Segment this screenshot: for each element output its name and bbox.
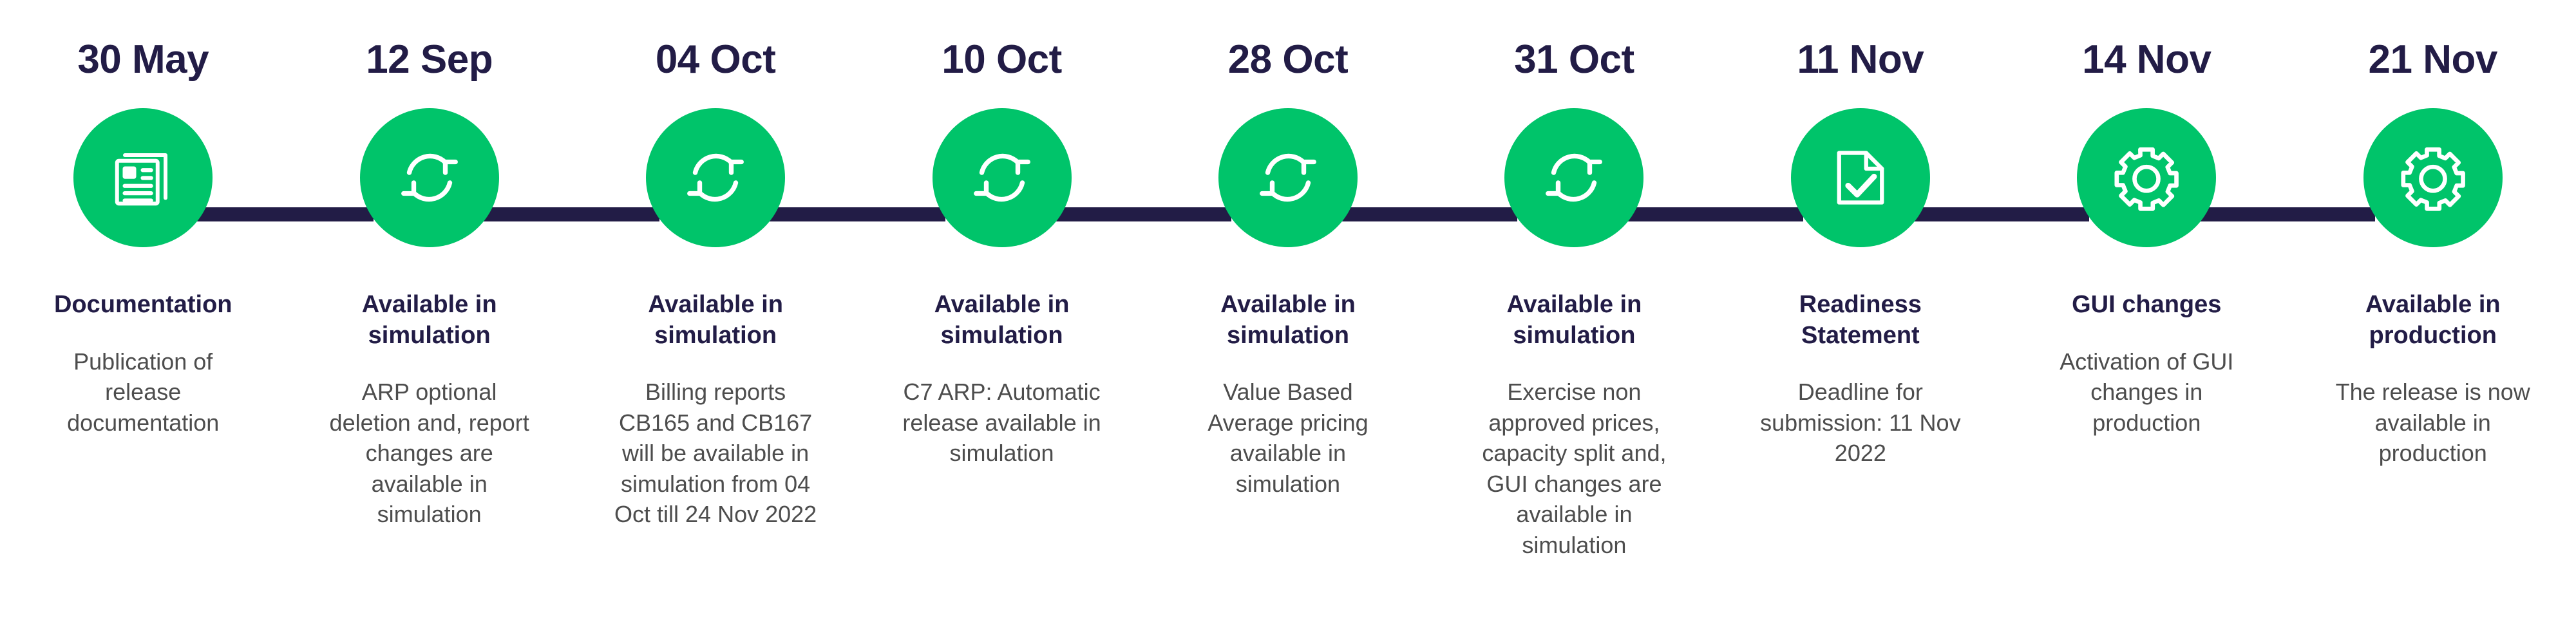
- milestone-date: 12 Sep: [366, 40, 493, 80]
- milestone-31-oct[interactable]: 31 Oct Available in simulation Exercise …: [1431, 0, 1717, 560]
- milestone-heading: Documentation: [54, 290, 232, 321]
- milestone-heading: Available in simulation: [1191, 290, 1385, 351]
- milestone-description: Value Based Average pricing available in…: [1182, 377, 1394, 499]
- milestone-node[interactable]: [646, 108, 785, 247]
- milestone-28-oct[interactable]: 28 Oct Available in simulation Value Bas…: [1145, 0, 1431, 499]
- milestone-description: Publication of release documentation: [37, 346, 249, 438]
- newspaper-icon: [107, 142, 179, 214]
- milestone-heading: Readiness Statement: [1764, 290, 1957, 351]
- milestone-node[interactable]: [73, 108, 213, 247]
- milestone-heading: Available in simulation: [905, 290, 1099, 351]
- milestone-heading: Available in simulation: [333, 290, 526, 351]
- milestone-date: 11 Nov: [1797, 40, 1924, 80]
- milestone-node[interactable]: [1791, 108, 1930, 247]
- milestone-node[interactable]: [360, 108, 499, 247]
- milestone-04-oct[interactable]: 04 Oct Available in simulation Billing r…: [573, 0, 858, 530]
- sync-icon: [679, 142, 752, 214]
- milestone-description: The release is now available in producti…: [2327, 377, 2539, 469]
- milestone-description: Exercise non approved prices, capacity s…: [1468, 377, 1680, 560]
- milestone-heading: GUI changes: [2072, 290, 2221, 321]
- milestone-node[interactable]: [1504, 108, 1643, 247]
- milestone-10-oct[interactable]: 10 Oct Available in simulation C7 ARP: A…: [858, 0, 1144, 469]
- milestone-date: 28 Oct: [1228, 40, 1349, 80]
- milestone-heading: Available in simulation: [619, 290, 812, 351]
- milestone-description: Deadline for submission: 11 Nov 2022: [1754, 377, 1967, 469]
- sync-icon: [966, 142, 1038, 214]
- release-timeline: 30 May Documen: [0, 0, 2576, 629]
- milestone-heading: Available in simulation: [1477, 290, 1671, 351]
- milestone-node[interactable]: [1218, 108, 1358, 247]
- milestone-11-nov[interactable]: 11 Nov Readiness Statement Deadline for …: [1718, 0, 2003, 469]
- gear-icon: [2110, 142, 2183, 214]
- milestone-30-may[interactable]: 30 May Documen: [0, 0, 286, 438]
- sync-icon: [1538, 142, 1610, 214]
- milestone-date: 21 Nov: [2369, 40, 2497, 80]
- milestone-description: Billing reports CB165 and CB167 will be …: [609, 377, 822, 530]
- milestone-description: ARP optional deletion and, report change…: [323, 377, 536, 530]
- milestone-21-nov[interactable]: 21 Nov Available in production The relea…: [2290, 0, 2576, 469]
- milestone-heading: Available in production: [2336, 290, 2530, 351]
- milestone-date: 04 Oct: [656, 40, 776, 80]
- milestone-node[interactable]: [933, 108, 1072, 247]
- milestone-columns: 30 May Documen: [0, 0, 2576, 629]
- milestone-date: 31 Oct: [1514, 40, 1634, 80]
- sync-icon: [1252, 142, 1324, 214]
- milestone-12-sep[interactable]: 12 Sep Available in simulation ARP optio…: [286, 0, 572, 530]
- gear-icon: [2397, 142, 2469, 214]
- milestone-14-nov[interactable]: 14 Nov GUI changes Activation of GUI cha…: [2003, 0, 2289, 438]
- milestone-description: Activation of GUI changes in production: [2040, 346, 2253, 438]
- milestone-date: 30 May: [77, 40, 209, 80]
- document-check-icon: [1824, 142, 1897, 214]
- milestone-node[interactable]: [2077, 108, 2216, 247]
- milestone-date: 10 Oct: [942, 40, 1062, 80]
- milestone-date: 14 Nov: [2082, 40, 2211, 80]
- milestone-description: C7 ARP: Automatic release available in s…: [896, 377, 1108, 469]
- milestone-node[interactable]: [2363, 108, 2503, 247]
- sync-icon: [393, 142, 466, 214]
